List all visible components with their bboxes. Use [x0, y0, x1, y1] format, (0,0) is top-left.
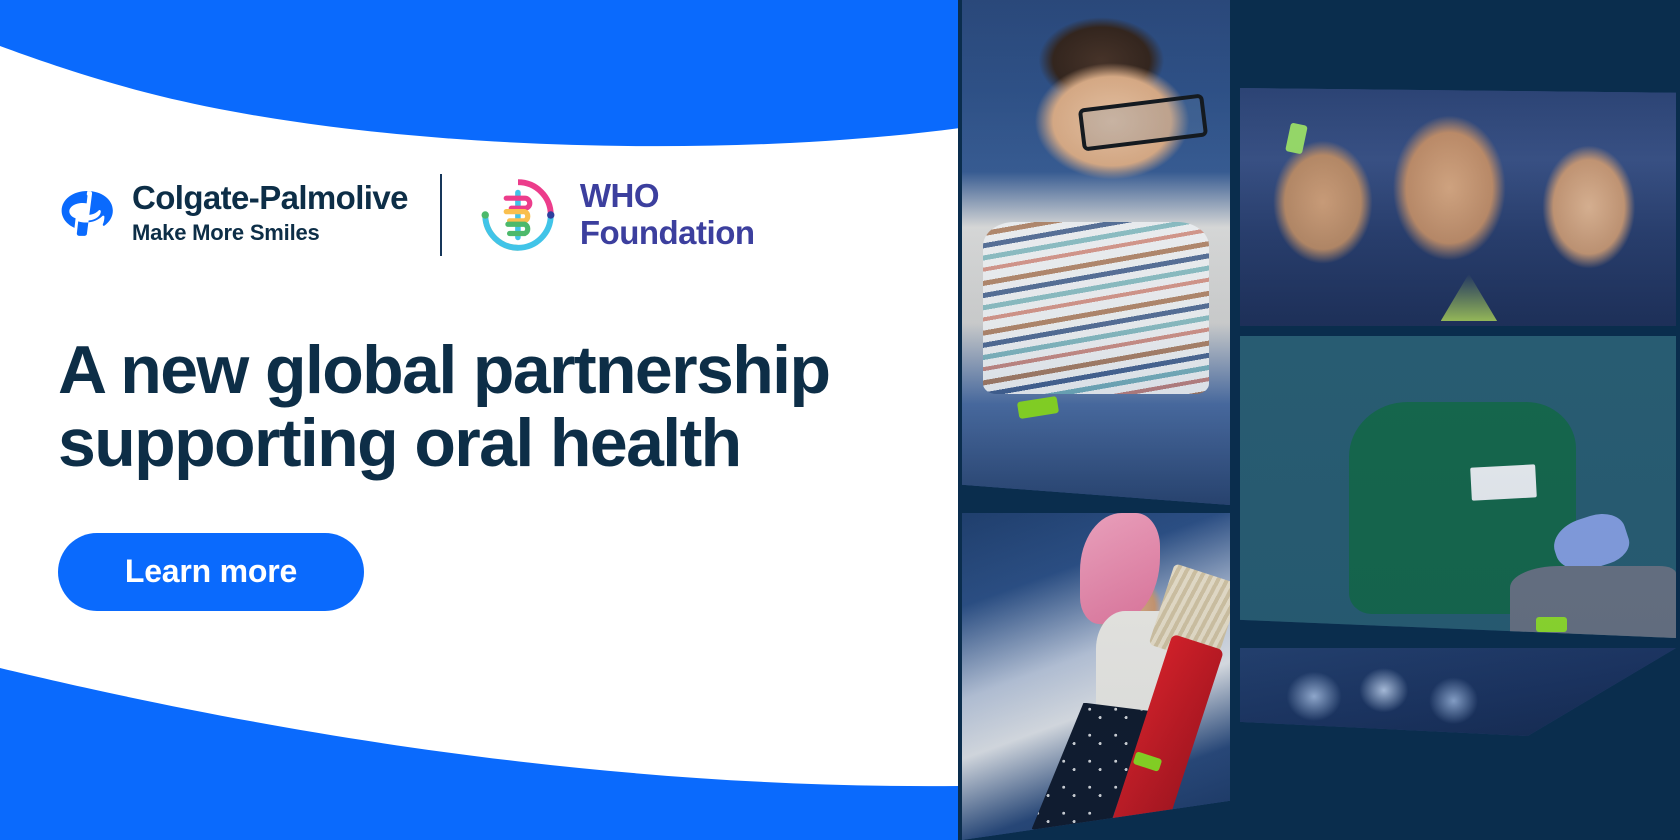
logo-divider — [440, 174, 442, 256]
who-foundation-rod-icon — [476, 173, 560, 257]
photo-collage — [958, 0, 1680, 840]
colgate-tagline: Make More Smiles — [132, 216, 408, 249]
colgate-wordmark: Colgate-Palmolive Make More Smiles — [132, 181, 408, 249]
who-foundation-wordmark: WHO Foundation — [580, 178, 755, 252]
photo-dentist-treating-patient — [1240, 336, 1676, 638]
photo-girl-with-giant-toothbrush — [962, 513, 1230, 840]
left-content-panel: Colgate-Palmolive Make More Smiles — [0, 0, 960, 840]
headline-line-2: supporting oral health — [58, 407, 938, 480]
photo-crowd-hands — [1240, 648, 1676, 736]
photo-boy-laughing — [962, 0, 1230, 505]
colgate-smile-mark-icon — [58, 186, 116, 244]
page-title: A new global partnership supporting oral… — [58, 334, 938, 481]
who-foundation-line-2: Foundation — [580, 215, 755, 252]
who-foundation-line-1: WHO — [580, 178, 755, 215]
content-stack: Colgate-Palmolive Make More Smiles — [58, 160, 938, 611]
colgate-brand-name: Colgate-Palmolive — [132, 181, 408, 216]
cta-row: Learn more — [58, 533, 938, 611]
photo-three-children-smiling — [1240, 88, 1676, 326]
promo-banner: Colgate-Palmolive Make More Smiles — [0, 0, 1680, 840]
headline-line-1: A new global partnership — [58, 334, 938, 407]
partner-logo-lockup: Colgate-Palmolive Make More Smiles — [58, 160, 938, 270]
who-foundation-logo[interactable]: WHO Foundation — [476, 173, 755, 257]
colgate-palmolive-logo[interactable]: Colgate-Palmolive Make More Smiles — [58, 181, 408, 249]
learn-more-button[interactable]: Learn more — [58, 533, 364, 611]
